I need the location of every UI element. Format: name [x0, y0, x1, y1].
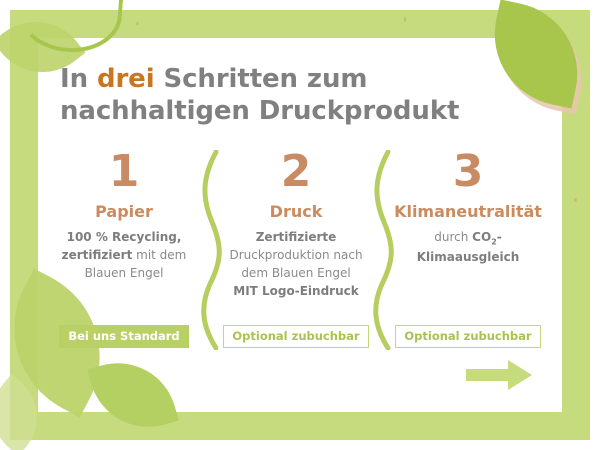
- step-desc-bold-2: MIT Logo-Eindruck: [233, 284, 358, 298]
- step-column-1: 1 Papier 100 % Recycling, zertifiziert m…: [38, 150, 210, 282]
- headline-line1-before: In: [60, 64, 97, 94]
- step-desc-regular: Druckproduktion nach dem Blauen Engel: [229, 248, 362, 280]
- step-description: durch CO2-Klimaausgleich: [382, 228, 554, 266]
- step-number: 2: [210, 150, 382, 194]
- headline-line2: nachhaltigen Druckprodukt: [60, 96, 459, 126]
- poster-content: In drei Schritten zum nachhaltigen Druck…: [38, 38, 562, 412]
- arrow-right-icon: [466, 360, 532, 390]
- badge-wrapper: Bei uns Standard: [38, 325, 210, 348]
- page-title: In drei Schritten zum nachhaltigen Druck…: [60, 64, 540, 127]
- texture-speck: [136, 22, 139, 25]
- status-badge[interactable]: Optional zubuchbar: [395, 325, 540, 348]
- step-column-2: 2 Druck Zertifizierte Druckproduktion na…: [210, 150, 382, 300]
- headline-accent-word: drei: [97, 64, 155, 94]
- step-number: 1: [38, 150, 210, 194]
- step-description: Zertifizierte Druckproduktion nach dem B…: [210, 228, 382, 300]
- step-title: Druck: [210, 202, 382, 221]
- step-desc-bold-2: zertifiziert: [62, 248, 133, 262]
- status-badge[interactable]: Bei uns Standard: [59, 325, 188, 348]
- texture-speck: [574, 198, 577, 202]
- steps-container: 1 Papier 100 % Recycling, zertifiziert m…: [38, 150, 562, 300]
- step-desc-regular: durch: [434, 230, 472, 244]
- badge-wrapper: Optional zubuchbar: [382, 325, 554, 348]
- infographic-poster: In drei Schritten zum nachhaltigen Druck…: [0, 0, 600, 450]
- step-desc-co: CO: [472, 230, 491, 244]
- badge-wrapper: Optional zubuchbar: [210, 325, 382, 348]
- headline-line1-after: Schritten zum: [155, 64, 368, 94]
- texture-speck: [404, 17, 406, 22]
- step-desc-bold-1: Zertifizierte: [256, 230, 337, 244]
- step-title: Papier: [38, 202, 210, 221]
- step-number: 3: [382, 150, 554, 194]
- step-column-3: 3 Klimaneutralität durch CO2-Klimaausgle…: [382, 150, 554, 266]
- step-description: 100 % Recycling, zertifiziert mit dem Bl…: [38, 228, 210, 282]
- status-badge[interactable]: Optional zubuchbar: [223, 325, 368, 348]
- step-desc-bold-1: 100 % Recycling,: [67, 230, 182, 244]
- step-title: Klimaneutralität: [382, 202, 554, 221]
